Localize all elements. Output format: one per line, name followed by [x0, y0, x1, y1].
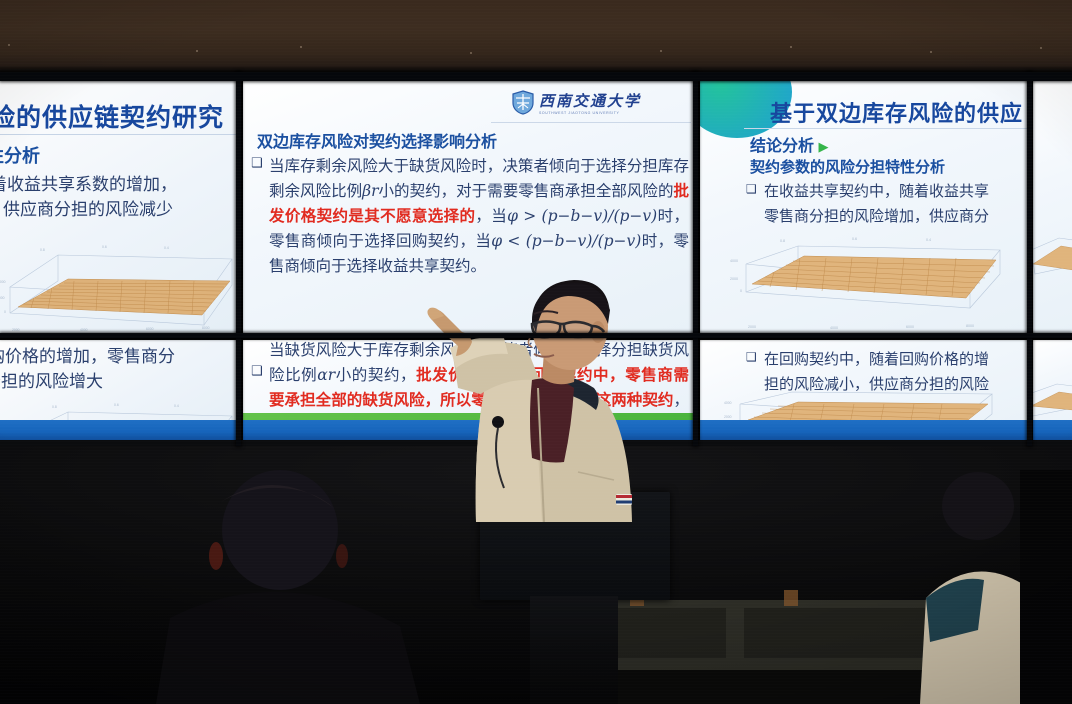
- svg-text:2000: 2000: [724, 415, 732, 419]
- bullet2-math1: αr: [317, 366, 335, 384]
- back-wall: [0, 0, 1072, 74]
- slide-left-lower-2: 分担的风险增大: [0, 367, 103, 392]
- lecture-screenshot: 险的供应链契约研究 性分析 着收益共享系数的增加， ，供应商分担的风险减少 0.…: [0, 0, 1072, 704]
- panel-farright-top: [1033, 80, 1072, 335]
- svg-text:0.4: 0.4: [164, 246, 169, 250]
- bullet1-math3: φ < (p−b−v)/(p−v): [491, 232, 641, 250]
- svg-text:0.8: 0.8: [780, 239, 785, 243]
- farright-plot-2: [1033, 380, 1072, 424]
- bullet1-seg2: 小的契约，对于需要零售商承担全部风险的: [379, 182, 674, 200]
- svg-text:0.6: 0.6: [114, 403, 119, 407]
- svg-text:4000: 4000: [80, 328, 88, 332]
- panel-right-top: 基于双边库存风险的供应 结论分析 ▶ 契约参数的风险分担特性分析 ❑ 在收益共享…: [700, 80, 1028, 335]
- university-name: 西南交通大学: [539, 90, 641, 111]
- slide-right-subhead: 契约参数的风险分担特性分析: [750, 156, 945, 177]
- slide-center-bullet-1: ❑ 当库存剩余风险大于缺货风险时，决策者倾向于选择分担库存剩余风险比例βr小的契…: [251, 154, 689, 279]
- panel-left-top: 险的供应链契约研究 性分析 着收益共享系数的增加， ，供应商分担的风险减少 0.…: [0, 80, 238, 335]
- bullet-marker: ❑: [251, 156, 263, 171]
- bullet-marker: ❑: [251, 364, 263, 379]
- svg-text:2000: 2000: [730, 277, 738, 281]
- slide-right-b1-l1: 在收益共享契约中，随着收益共享: [764, 180, 1028, 201]
- bezel-seam-3: [1027, 72, 1032, 446]
- panel-farright-bottom: [1033, 340, 1072, 446]
- slide-right-title: 基于双边库存风险的供应: [770, 96, 1023, 128]
- slide-center-heading: 双边库存风险对契约选择影响分析: [257, 128, 497, 152]
- audience-right: [920, 470, 1072, 704]
- presenter: [392, 276, 692, 522]
- bezel-top-edge: [0, 72, 1072, 81]
- svg-text:2000: 2000: [12, 328, 20, 332]
- brand-tag: [616, 494, 632, 505]
- panel-left-bottom: 购价格的增加，零售商分 分担的风险增大 0.80.6 0.44000 20000…: [0, 340, 238, 446]
- svg-text:2000: 2000: [748, 325, 756, 329]
- svg-text:0.4: 0.4: [926, 238, 931, 242]
- lapel-mic-icon: [492, 416, 504, 428]
- slide-left-subhead: 性分析: [0, 142, 40, 168]
- svg-text:0.6: 0.6: [852, 237, 857, 241]
- slide-right-bullet-1: ❑ 在收益共享契约中，随着收益共享 零售商分担的风险增加，供应商分: [746, 180, 1028, 226]
- slide-left-title: 险的供应链契约研究: [0, 98, 224, 134]
- bullet-marker: ❑: [746, 350, 757, 364]
- slide-left-lower-1: 购价格的增加，零售商分: [0, 342, 175, 367]
- slide-right-b1-l2: 零售商分担的风险增加，供应商分: [764, 205, 1028, 226]
- surface-plot-left-top: 0.80.6 0.44000 20000 20004000 60008000: [0, 225, 238, 335]
- farright-plot: [1033, 230, 1072, 290]
- panel-right-bottom: ❑ 在回购契约中，随着回购价格的增 担的风险减小，供应商分担的风险 400020…: [700, 340, 1028, 446]
- university-name-en: SOUTHWEST JIAOTONG UNIVERSITY: [539, 111, 641, 115]
- play-triangle-icon: ▶: [818, 139, 828, 154]
- bullet-marker: ❑: [746, 182, 757, 196]
- svg-text:2000: 2000: [0, 296, 5, 300]
- svg-text:8000: 8000: [966, 324, 974, 328]
- svg-text:4000: 4000: [724, 401, 732, 405]
- svg-text:4000: 4000: [730, 259, 738, 263]
- university-logo: 西南交通大学 SOUTHWEST JIAOTONG UNIVERSITY: [511, 90, 641, 115]
- svg-text:0.4: 0.4: [174, 404, 179, 408]
- slide-right-b2-l1: 在回购契约中，随着回购价格的增: [764, 348, 1028, 369]
- svg-text:0: 0: [740, 289, 742, 293]
- podium-column: [530, 596, 618, 704]
- svg-text:0.8: 0.8: [52, 405, 57, 409]
- svg-text:0: 0: [4, 310, 6, 314]
- svg-text:0.8: 0.8: [40, 248, 45, 252]
- bezel-seam-2: [693, 72, 698, 446]
- bullet1-math1: βr: [362, 182, 378, 200]
- svg-text:8000: 8000: [202, 326, 210, 330]
- surface-plot-right-top: 0.80.60.4 400020000 20004000 60008000: [730, 230, 1028, 335]
- shield-icon: [511, 90, 535, 115]
- bullet1-seg3: ，当: [475, 207, 507, 225]
- svg-text:4000: 4000: [830, 326, 838, 330]
- slide-right-section: 结论分析: [750, 136, 814, 155]
- bezel-seam-1: [236, 72, 241, 446]
- bezel-seam-row: [0, 333, 1072, 338]
- svg-text:4000: 4000: [0, 280, 6, 284]
- bullet1-math2: φ > (p−b−v)/(p−v): [507, 207, 657, 225]
- slide-left-body-1: 着收益共享系数的增加，: [0, 170, 177, 195]
- svg-text:0.6: 0.6: [102, 245, 107, 249]
- svg-text:6000: 6000: [146, 327, 154, 331]
- svg-text:6000: 6000: [906, 325, 914, 329]
- slide-left-body-2: ，供应商分担的风险减少: [0, 195, 173, 220]
